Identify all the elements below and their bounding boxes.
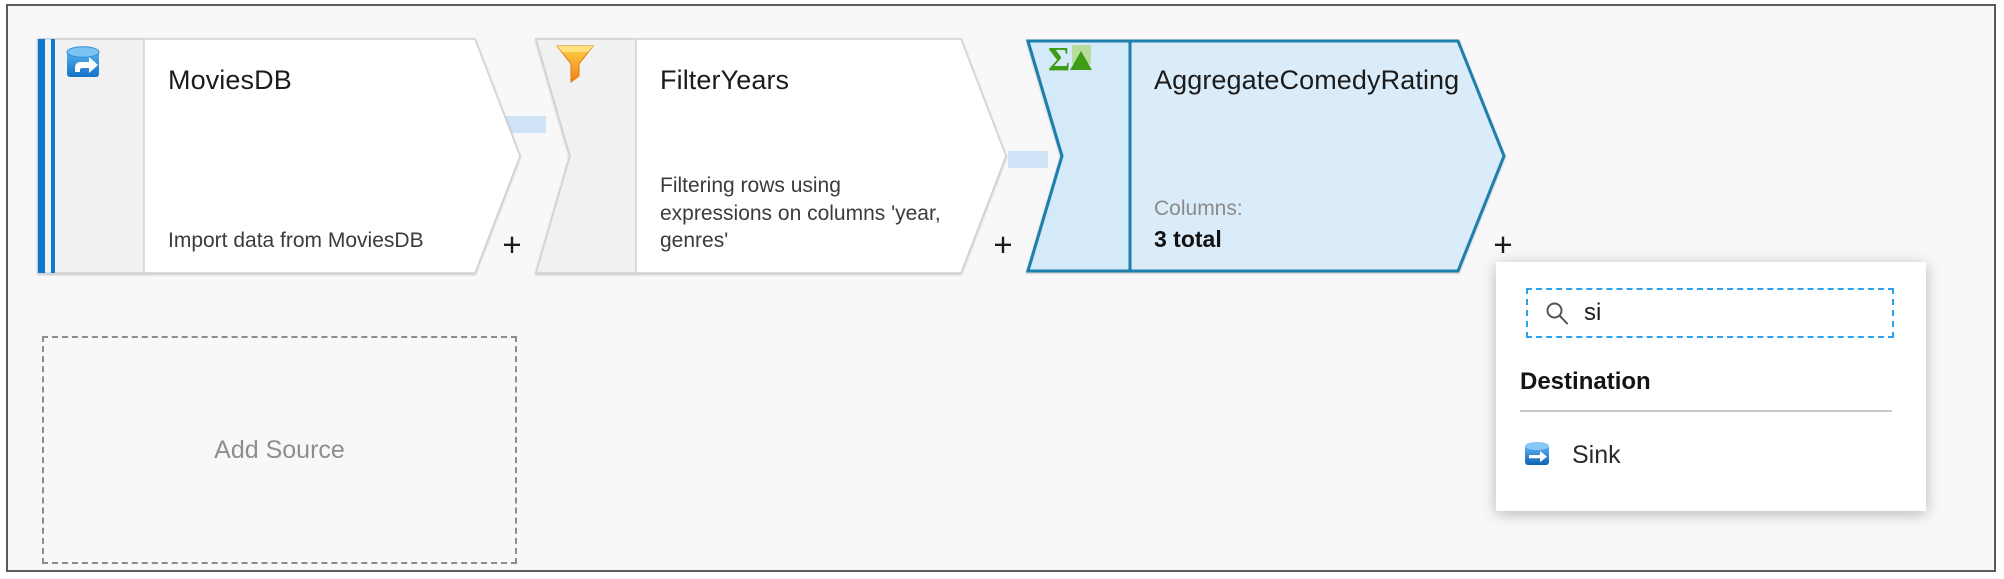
transformation-picker-popup[interactable]: Destination Sink — [1496, 262, 1926, 511]
add-transformation-after-source-button[interactable]: + — [497, 231, 527, 261]
popup-group-title: Destination — [1520, 368, 1651, 396]
stream-bar-primary — [38, 39, 45, 273]
node-moviesdb-shape — [38, 39, 520, 273]
stream-indicator-bars — [38, 39, 60, 273]
stream-bar-secondary — [51, 39, 55, 273]
add-transformation-after-aggregate-button[interactable]: + — [1488, 231, 1518, 261]
node-aggregatecomedyrating[interactable]: Σ AggregateComedyRating Columns: 3 total — [1026, 39, 1506, 273]
popup-option-sink[interactable]: Sink — [1520, 430, 1896, 480]
node-filteryears[interactable]: FilterYears Filtering rows using express… — [536, 39, 1006, 273]
popup-option-sink-label: Sink — [1572, 441, 1621, 470]
add-source-label: Add Source — [214, 436, 345, 465]
add-transformation-after-filter-button[interactable]: + — [988, 231, 1018, 261]
node-moviesdb-outline — [38, 39, 520, 273]
search-box[interactable] — [1526, 288, 1894, 338]
node-moviesdb[interactable]: MoviesDB Import data from MoviesDB — [38, 39, 520, 273]
node-filteryears-outline — [536, 39, 1006, 273]
sink-icon — [1520, 438, 1554, 472]
popup-divider — [1520, 410, 1892, 412]
add-source-placeholder[interactable]: Add Source — [42, 336, 517, 564]
node-aggregatecomedyrating-shape — [1026, 39, 1506, 273]
node-filteryears-shape — [536, 39, 1006, 273]
data-flow-canvas-frame: MoviesDB Import data from MoviesDB + — [6, 4, 1996, 572]
search-input[interactable] — [1584, 299, 1864, 327]
node-aggregatecomedyrating-outline — [1026, 39, 1506, 273]
search-icon — [1544, 300, 1570, 326]
data-flow-canvas[interactable]: MoviesDB Import data from MoviesDB + — [8, 6, 1994, 570]
